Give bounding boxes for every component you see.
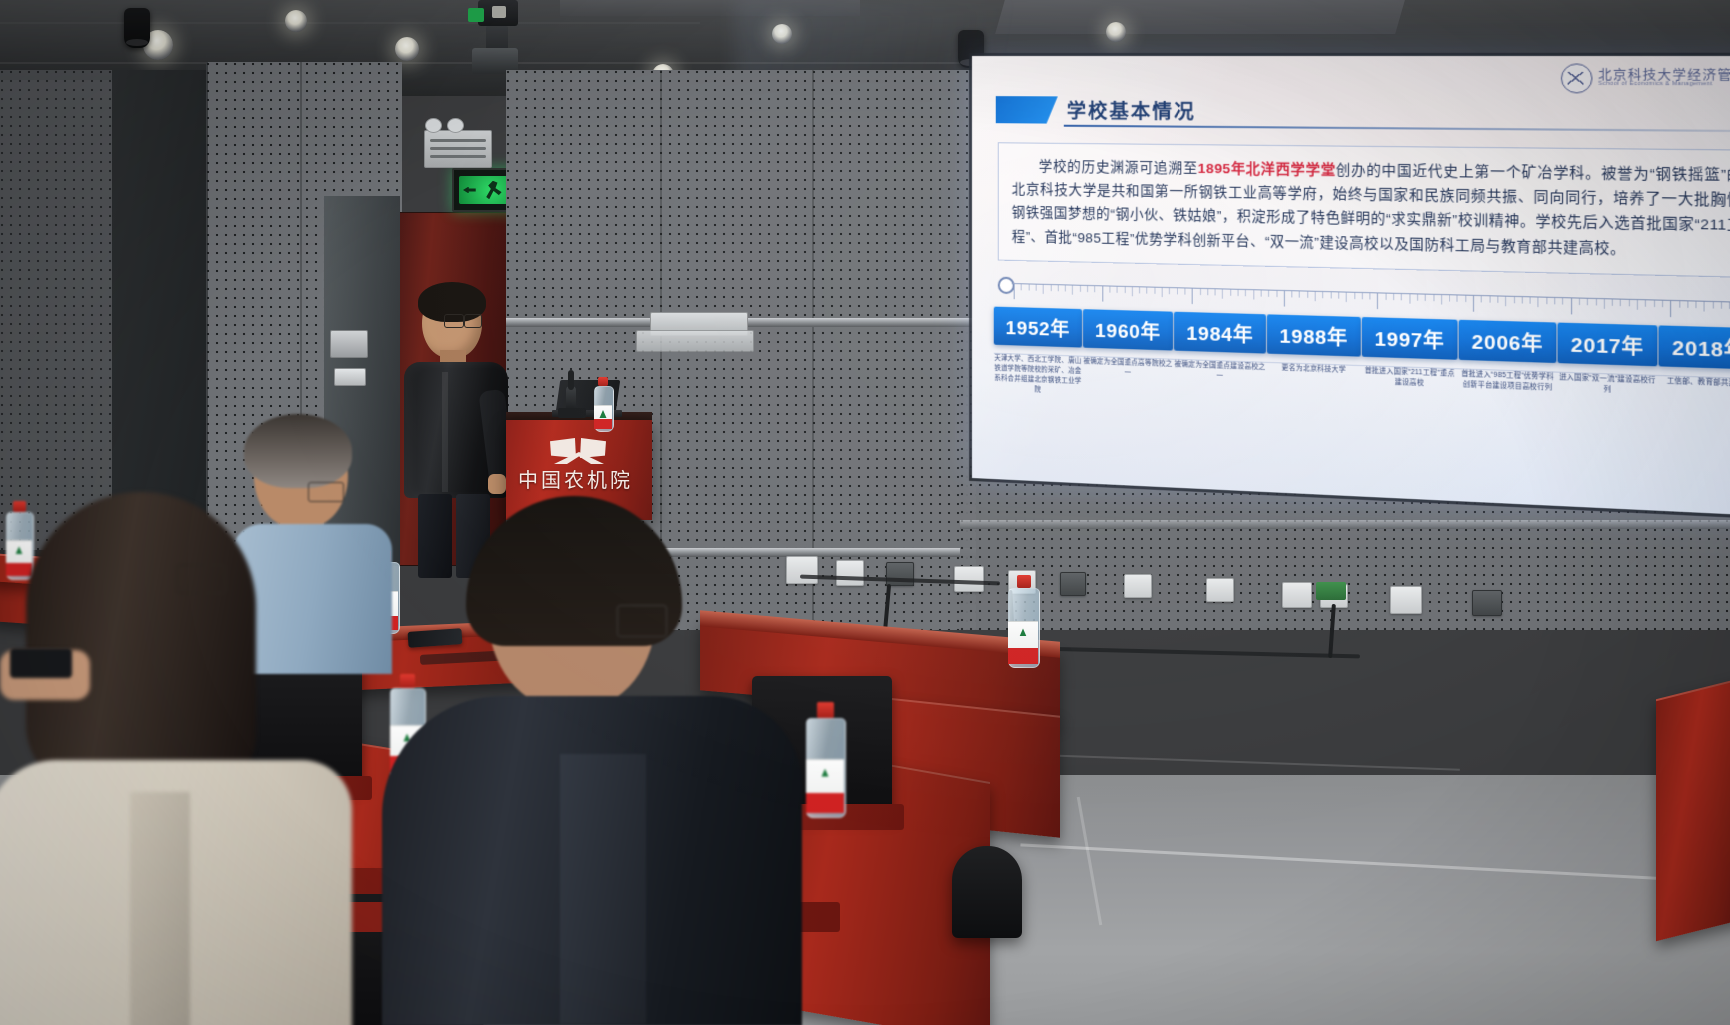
- wall-socket-plate[interactable]: [1206, 578, 1234, 602]
- timeline-year-label: 2006年: [1459, 320, 1557, 363]
- slide-title-tab: [996, 96, 1058, 124]
- timeline-card: 1988年更名为北京科技大学: [1267, 314, 1361, 376]
- desk-far-right: [1656, 677, 1730, 941]
- status-light-green: [468, 8, 484, 22]
- timeline-description: 被确定为全国重点高等院校之一: [1083, 357, 1173, 381]
- wall-vent-slot: [636, 330, 754, 352]
- wall-socket-plate[interactable]: [1390, 586, 1422, 614]
- attendee-dark-suit: [370, 506, 810, 1025]
- wall-seam: [812, 70, 814, 630]
- timeline-cards: 1952年天津大学、西北工学院、唐山铁道学院等院校的采矿、冶金系科合并组建北京钢…: [994, 307, 1730, 463]
- suit-lapel: [560, 754, 646, 1024]
- water-bottle[interactable]: [594, 386, 612, 430]
- ceiling-seam-2: [0, 22, 700, 24]
- slide-paragraph: 学校的历史渊源可追溯至1895年北洋西学学堂创办的中国近代史上第一个矿冶学科。被…: [1012, 154, 1730, 263]
- microphone-base: [558, 408, 586, 418]
- timeline-year-label: 2017年: [1558, 323, 1658, 367]
- timeline-description: 进入国家“双一流”建设高校行列: [1558, 373, 1658, 398]
- timeline-description: 首批进入国家“211工程”重点建设高校: [1362, 366, 1458, 390]
- ceiling-downlight: [285, 10, 307, 32]
- wall-socket-plate[interactable]: [1060, 572, 1086, 596]
- slide-title: 学校基本情况: [1067, 96, 1196, 124]
- timeline-description: 首批进入“985工程”优势学科创新平台建设项目高校行列: [1459, 369, 1557, 394]
- timeline-year-label: 1997年: [1362, 317, 1458, 360]
- wall-socket-plate[interactable]: [836, 560, 864, 586]
- chair-isolated[interactable]: [952, 846, 1022, 938]
- attendee-woman-coat: [0, 492, 400, 1025]
- timeline-year-label: 2018年: [1659, 325, 1730, 369]
- attendee-phone[interactable]: [10, 648, 72, 678]
- timeline-description: 被确定为全国重点建设高校之一: [1174, 360, 1266, 384]
- timeline-card: 1952年天津大学、西北工学院、唐山铁道学院等院校的采矿、冶金系科合并组建北京钢…: [994, 307, 1082, 398]
- timeline-card: 1997年首批进入国家“211工程”重点建设高校: [1362, 317, 1458, 391]
- presenter-hand: [488, 474, 506, 494]
- jacket-zipper: [442, 372, 448, 492]
- ceiling-slab: [995, 0, 1405, 34]
- university-logo: 北京科技大学经济管理学院 School of Economics & Manag…: [1561, 63, 1730, 94]
- conference-room-photo: 北京科技大学经济管理学院 School of Economics & Manag…: [0, 0, 1730, 1025]
- logo-text-en: School of Economics & Management: [1598, 82, 1730, 89]
- para-lead: 学校的历史渊源可追溯至: [1039, 159, 1198, 176]
- timeline-card: 1960年被确定为全国重点高等院校之一: [1083, 309, 1173, 380]
- ceiling-slab-2: [560, 0, 860, 16]
- wall-socket-plate[interactable]: [1282, 582, 1312, 608]
- timeline-year-label: 1960年: [1083, 309, 1173, 350]
- ceiling-downlight: [772, 24, 792, 44]
- wall-panel-perforated: [0, 70, 120, 550]
- para-highlight: 1895年北洋西学学堂: [1198, 161, 1336, 178]
- timeline-description: 工信部、教育部共建高校: [1659, 376, 1730, 390]
- attendee-hair: [244, 414, 352, 488]
- wall-socket-plate[interactable]: [954, 566, 984, 592]
- sensor-dome: [447, 118, 464, 133]
- podium-logo-icon: [550, 430, 608, 460]
- slide-content: 北京科技大学经济管理学院 School of Economics & Manag…: [972, 56, 1730, 517]
- timeline-card: 2006年首批进入“985工程”优势学科创新平台建设项目高校行列: [1459, 320, 1557, 394]
- ruler-ticks: [996, 279, 1730, 298]
- water-bottle[interactable]: [1008, 588, 1038, 666]
- presenter-glasses: [464, 314, 482, 328]
- wall-socket-plate[interactable]: [1472, 590, 1502, 616]
- wall-trim-rail: [960, 520, 1730, 529]
- wall-control-panel[interactable]: [424, 130, 492, 168]
- attendee-glasses: [176, 564, 226, 594]
- ruler-knob-icon: [998, 277, 1015, 295]
- wall-socket-plate[interactable]: [1124, 574, 1152, 598]
- timeline-description: 更名为北京科技大学: [1267, 363, 1361, 377]
- university-seal-icon: [1561, 63, 1593, 93]
- para-rest: 创办的中国近代史上第一个矿冶学科。被誉为“钢铁摇篮”的北京科技大学是共和国第一所…: [1012, 162, 1730, 256]
- timeline-year-label: 1952年: [994, 307, 1082, 348]
- timeline-year-label: 1988年: [1267, 314, 1361, 356]
- ceiling-downlight: [395, 37, 419, 61]
- timeline-card: 1984年被确定为全国重点建设高校之一: [1174, 312, 1266, 384]
- attendee-glasses: [616, 604, 668, 638]
- sensor-dome: [425, 118, 442, 133]
- wall-seam: [206, 62, 208, 562]
- coat-fold: [130, 792, 190, 1025]
- ceiling-marker: [492, 6, 506, 18]
- ceiling-spotlight: [124, 8, 150, 48]
- wall-socket-plate[interactable]: [886, 562, 914, 586]
- slide-paragraph-box: 学校的历史渊源可追溯至1895年北洋西学学堂创办的中国近代史上第一个矿冶学科。被…: [998, 142, 1730, 278]
- exit-arrow-icon: [463, 187, 476, 194]
- slide-title-row: 学校基本情况: [996, 96, 1196, 125]
- podium-organization-name: 中国农机院: [518, 464, 633, 493]
- timeline-card: 2018年工信部、教育部共建高校: [1659, 325, 1730, 390]
- presenter-glasses: [444, 314, 464, 328]
- ruler-axis: [1012, 283, 1730, 304]
- projection-screen: 北京科技大学经济管理学院 School of Economics & Manag…: [972, 56, 1730, 517]
- slide-title-underline: [1064, 125, 1730, 132]
- door-plate-small: [334, 368, 366, 386]
- timeline-description: 天津大学、西北工学院、唐山铁道学院等院校的采矿、冶金系科合并组建北京钢铁工业学院: [994, 354, 1082, 398]
- ceiling-downlight: [1106, 22, 1126, 42]
- attendee-hair: [26, 492, 256, 792]
- microphone-gooseneck: [568, 370, 574, 390]
- water-bottle[interactable]: [806, 718, 844, 816]
- timeline-card: 2017年进入国家“双一流”建设高校行列: [1558, 323, 1658, 398]
- network-port-plate: [1316, 582, 1346, 600]
- door-sign-plate: [330, 330, 368, 358]
- timeline-year-label: 1984年: [1174, 312, 1266, 354]
